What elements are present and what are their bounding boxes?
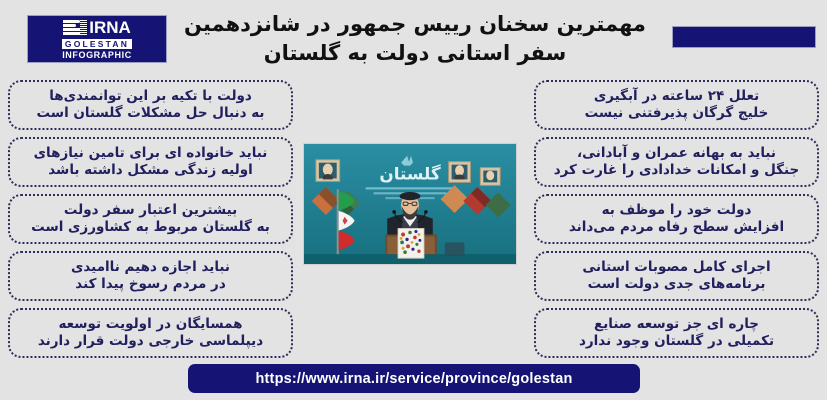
- fact-text: دولت خود را موظف به افزایش سطح رفاه مردم…: [569, 202, 784, 236]
- fact-card: اجرای کامل مصوبات استانی برنامه‌های جدی …: [534, 251, 819, 301]
- source-url-text: https://www.irna.ir/service/province/gol…: [255, 371, 572, 387]
- fact-card: بیشترین اعتبار سفر دولت به گلستان مربوط …: [8, 194, 293, 244]
- fact-card: نباید به بهانه عمران و آبادانی، جنگل و ا…: [534, 137, 819, 187]
- fact-text: اجرای کامل مصوبات استانی برنامه‌های جدی …: [582, 259, 770, 293]
- svg-text:گلستان: گلستان: [379, 163, 441, 183]
- logo-section-text: INFOGRAPHIC: [62, 50, 132, 61]
- fact-text: دولت با تکیه بر این توانمندی‌ها به دنبال…: [37, 88, 265, 122]
- logo-province-text: GOLESTAN: [62, 39, 132, 49]
- header: IRNA GOLESTAN INFOGRAPHIC مهمترین سخنان …: [0, 0, 827, 74]
- event-photo-illustration: گلستان: [304, 144, 516, 264]
- page-title: مهمترین سخنان رییس جمهور در شانزدهمین سف…: [180, 10, 650, 68]
- event-photo: گلستان: [303, 143, 517, 265]
- fact-card: تعلل ۲۴ ساعته در آبگیری خلیج گرگان پذیرف…: [534, 80, 819, 130]
- irna-golestan-logo: IRNA GOLESTAN INFOGRAPHIC: [27, 15, 167, 63]
- infographic-page: IRNA GOLESTAN INFOGRAPHIC مهمترین سخنان …: [0, 0, 827, 400]
- fact-card: نباید اجازه دهیم ناامیدی در مردم رسوخ پی…: [8, 251, 293, 301]
- fact-card: دولت خود را موظف به افزایش سطح رفاه مردم…: [534, 194, 819, 244]
- fact-card: همسایگان در اولویت توسعه دیپلماسی خارجی …: [8, 308, 293, 358]
- fact-card: نباید خانواده ای برای تامین نیازهای اولی…: [8, 137, 293, 187]
- irna-swoosh-icon: [63, 20, 87, 35]
- page-title-line-1: مهمترین سخنان رییس جمهور در شانزدهمین: [184, 12, 646, 36]
- logo-brand-text: IRNA: [89, 19, 131, 36]
- right-facts-column: تعلل ۲۴ ساعته در آبگیری خلیج گرگان پذیرف…: [534, 80, 819, 358]
- fact-text: نباید خانواده ای برای تامین نیازهای اولی…: [34, 145, 268, 179]
- fact-text: چاره ای جز توسعه صنایع تکمیلی در گلستان …: [579, 316, 774, 350]
- fact-text: بیشترین اعتبار سفر دولت به گلستان مربوط …: [31, 202, 270, 236]
- fact-text: نباید اجازه دهیم ناامیدی در مردم رسوخ پی…: [71, 259, 230, 293]
- fact-card: دولت با تکیه بر این توانمندی‌ها به دنبال…: [8, 80, 293, 130]
- source-url-bar[interactable]: https://www.irna.ir/service/province/gol…: [188, 364, 640, 393]
- logo-brand-row: IRNA: [63, 18, 131, 37]
- fact-card: چاره ای جز توسعه صنایع تکمیلی در گلستان …: [534, 308, 819, 358]
- left-facts-column: دولت با تکیه بر این توانمندی‌ها به دنبال…: [8, 80, 293, 358]
- page-title-line-2: سفر استانی دولت به گلستان: [180, 39, 650, 68]
- fact-text: نباید به بهانه عمران و آبادانی، جنگل و ا…: [554, 145, 800, 179]
- fact-text: تعلل ۲۴ ساعته در آبگیری خلیج گرگان پذیرف…: [585, 88, 769, 122]
- fact-text: همسایگان در اولویت توسعه دیپلماسی خارجی …: [38, 316, 263, 350]
- header-accent-bar: [672, 26, 816, 48]
